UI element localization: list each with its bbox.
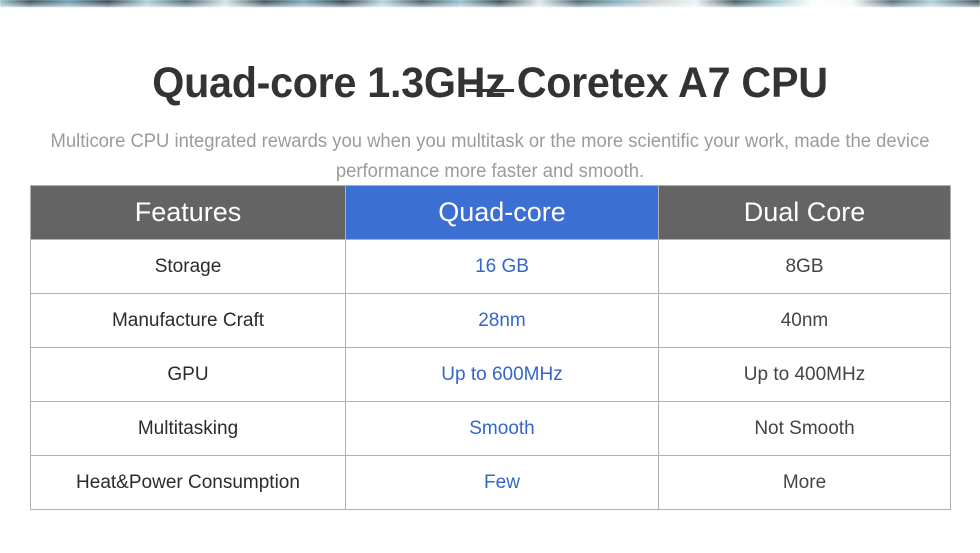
page-subtitle: Multicore CPU integrated rewards you whe…: [28, 127, 951, 187]
comparison-table: Features Quad-core Dual Core Storage 16 …: [30, 185, 951, 510]
cell-feature: Storage: [31, 240, 346, 294]
cell-quad-core: Up to 600MHz: [346, 348, 659, 402]
cell-quad-core: 28nm: [346, 294, 659, 348]
page-title: Quad-core 1.3GHz Coretex A7 CPU: [20, 57, 961, 109]
subtitle-line-1: Multicore CPU integrated rewards you whe…: [51, 131, 790, 152]
cell-dual-core: Up to 400MHz: [659, 348, 951, 402]
table-row: Manufacture Craft 28nm 40nm: [31, 294, 951, 348]
cell-feature: Manufacture Craft: [31, 294, 346, 348]
cell-quad-core: Few: [346, 456, 659, 510]
product-spec-page: Quad-core 1.3GHz Coretex A7 CPU Multicor…: [0, 0, 980, 553]
table-head: Features Quad-core Dual Core: [31, 186, 951, 240]
table-row: Storage 16 GB 8GB: [31, 240, 951, 294]
table-header-row: Features Quad-core Dual Core: [31, 186, 951, 240]
column-header-features: Features: [31, 186, 346, 240]
title-divider: [466, 89, 514, 92]
cell-dual-core: Not Smooth: [659, 402, 951, 456]
cell-dual-core: 8GB: [659, 240, 951, 294]
cell-feature: GPU: [31, 348, 346, 402]
column-header-quad-core: Quad-core: [346, 186, 659, 240]
cell-feature: Multitasking: [31, 402, 346, 456]
cell-quad-core: Smooth: [346, 402, 659, 456]
table-row: Heat&Power Consumption Few More: [31, 456, 951, 510]
table-body: Storage 16 GB 8GB Manufacture Craft 28nm…: [31, 240, 951, 510]
column-header-dual-core: Dual Core: [659, 186, 951, 240]
cell-dual-core: More: [659, 456, 951, 510]
table-row: GPU Up to 600MHz Up to 400MHz: [31, 348, 951, 402]
cell-dual-core: 40nm: [659, 294, 951, 348]
cell-quad-core: 16 GB: [346, 240, 659, 294]
banner-image-fade: [0, 0, 980, 14]
cell-feature: Heat&Power Consumption: [31, 456, 346, 510]
table-row: Multitasking Smooth Not Smooth: [31, 402, 951, 456]
